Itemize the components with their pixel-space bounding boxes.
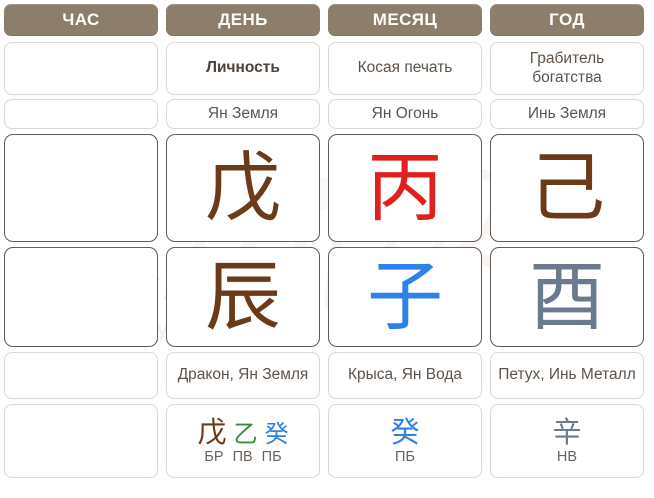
column-header-month[interactable]: МЕСЯЦ — [328, 4, 482, 36]
stem-element-day[interactable]: Ян Земля — [166, 99, 320, 129]
hidden-stem-chars: 癸 — [390, 417, 419, 447]
ten-god-year[interactable]: Грабитель богатства — [490, 42, 644, 95]
hidden-stems-month[interactable]: 癸ПБ — [328, 404, 482, 478]
heavenly-stem-hour[interactable] — [4, 134, 158, 242]
hidden-stem-labels: ПБ — [395, 449, 415, 465]
hidden-stem-char: 辛 — [552, 417, 581, 447]
stem-element-year[interactable]: Инь Земля — [490, 99, 644, 129]
hidden-stem-char: 乙 — [234, 422, 258, 447]
heavenly-stem-year[interactable]: 己 — [490, 134, 644, 242]
stem-element-row: Ян Земля Ян Огонь Инь Земля — [0, 99, 654, 129]
heavenly-stems-row: 戊 丙 己 — [0, 134, 654, 242]
column-header-year[interactable]: ГОД — [490, 4, 644, 36]
hidden-stems-hour[interactable] — [4, 404, 158, 478]
hidden-stems-row: 戊乙癸БРПВПБ 癸ПБ 辛НВ — [0, 404, 654, 478]
hidden-stem-label: ПБ — [262, 449, 282, 465]
hidden-stem-chars: 戊乙癸 — [197, 417, 288, 447]
earthly-branch-month[interactable]: 子 — [328, 247, 482, 347]
hidden-stems-day[interactable]: 戊乙癸БРПВПБ — [166, 404, 320, 478]
branch-animal-row: Дракон, Ян Земля Крыса, Ян Вода Петух, И… — [0, 352, 654, 399]
hidden-stem-chars: 辛 — [552, 417, 581, 447]
branch-animal-month[interactable]: Крыса, Ян Вода — [328, 352, 482, 399]
branch-animal-day[interactable]: Дракон, Ян Земля — [166, 352, 320, 399]
earthly-branch-hour[interactable] — [4, 247, 158, 347]
earthly-branch-year[interactable]: 酉 — [490, 247, 644, 347]
earthly-branches-row: 辰 子 酉 — [0, 247, 654, 347]
earthly-branch-month-char: 子 — [367, 259, 443, 335]
branch-animal-hour[interactable] — [4, 352, 158, 399]
stem-element-hour[interactable] — [4, 99, 158, 129]
ten-god-hour[interactable] — [4, 42, 158, 95]
branch-animal-year[interactable]: Петух, Инь Металл — [490, 352, 644, 399]
hidden-stem-label: ПБ — [395, 449, 415, 465]
ten-gods-row: Личность Косая печать Грабитель богатств… — [0, 42, 654, 95]
column-header-hour[interactable]: ЧАС — [4, 4, 158, 36]
heavenly-stem-day[interactable]: 戊 — [166, 134, 320, 242]
hidden-stem-labels: БРПВПБ — [204, 449, 281, 465]
heavenly-stem-day-char: 戊 — [205, 150, 281, 226]
hidden-stem-labels: НВ — [557, 449, 577, 465]
heavenly-stem-year-char: 己 — [529, 150, 605, 226]
heavenly-stem-month-char: 丙 — [367, 150, 443, 226]
hidden-stem-label: НВ — [557, 449, 577, 465]
ten-god-day[interactable]: Личность — [166, 42, 320, 95]
hidden-stems-year[interactable]: 辛НВ — [490, 404, 644, 478]
stem-element-month[interactable]: Ян Огонь — [328, 99, 482, 129]
hidden-stem-char: 癸 — [390, 417, 419, 447]
ten-god-month[interactable]: Косая печать — [328, 42, 482, 95]
earthly-branch-day-char: 辰 — [205, 259, 281, 335]
hidden-stem-label: ПВ — [233, 449, 253, 465]
bazi-chart-grid: ЧАС ДЕНЬ МЕСЯЦ ГОД Личность Косая печать… — [0, 0, 654, 478]
hidden-stem-char: 戊 — [197, 417, 226, 447]
earthly-branch-year-char: 酉 — [529, 259, 605, 335]
hidden-stem-char: 癸 — [265, 422, 289, 447]
column-header-day[interactable]: ДЕНЬ — [166, 4, 320, 36]
header-row: ЧАС ДЕНЬ МЕСЯЦ ГОД — [0, 4, 654, 36]
hidden-stem-label: БР — [204, 449, 223, 465]
earthly-branch-day[interactable]: 辰 — [166, 247, 320, 347]
heavenly-stem-month[interactable]: 丙 — [328, 134, 482, 242]
